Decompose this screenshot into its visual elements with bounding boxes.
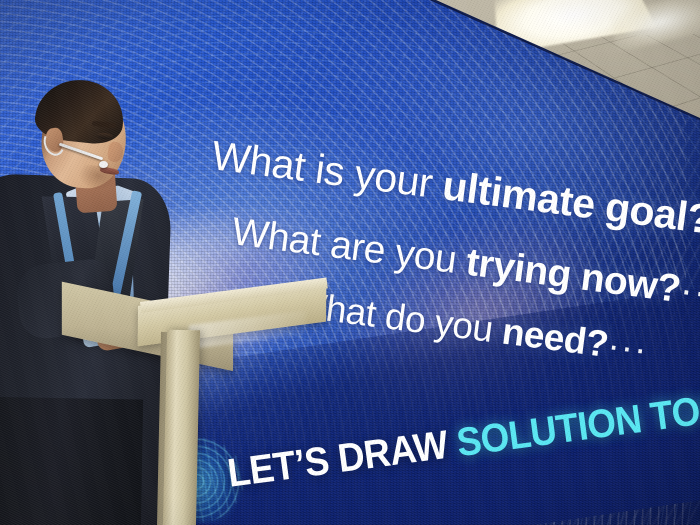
presentation-photo: What is your ultimate goal?··· What are …	[0, 0, 700, 525]
speaker	[0, 0, 700, 525]
headset-microphone-capsule	[99, 161, 108, 168]
lectern-column	[163, 330, 200, 525]
trousers	[0, 397, 143, 525]
